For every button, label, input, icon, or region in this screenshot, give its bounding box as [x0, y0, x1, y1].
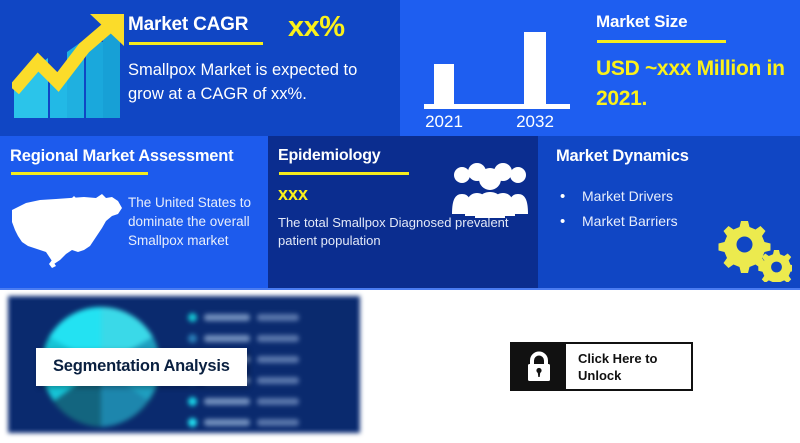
panel-market-dynamics: Market Dynamics Market Drivers Market Ba…: [538, 136, 800, 290]
unlock-button-label: Click Here to Unlock: [566, 344, 691, 389]
legend-label: [204, 314, 250, 321]
legend-value: [257, 377, 299, 384]
dynamics-list: Market Drivers Market Barriers: [560, 184, 678, 234]
panel-regional-market-assessment: Regional Market Assessment The United St…: [0, 136, 268, 290]
lock-icon: [525, 351, 553, 383]
legend-label: [204, 398, 250, 405]
list-item: [188, 308, 348, 326]
dynamics-title: Market Dynamics: [556, 147, 689, 166]
growth-chart-icon: [12, 12, 130, 120]
market-size-value: USD ~xxx Million in 2021.: [596, 54, 794, 114]
legend-dot-icon: [188, 397, 197, 406]
legend-value: [257, 314, 299, 321]
market-size-title: Market Size: [596, 12, 687, 32]
gears-icon: [710, 214, 792, 282]
cagr-value: xx%: [288, 11, 345, 44]
legend-label: [204, 419, 250, 426]
panel-epidemiology: Epidemiology xxx The total Smallpox Diag…: [268, 136, 538, 290]
panel-market-size: 2021 2032 Market Size USD ~xxx Million i…: [400, 0, 800, 136]
unlock-button[interactable]: Click Here to Unlock: [510, 342, 693, 391]
usa-map-icon: [6, 188, 126, 274]
cagr-title: Market CAGR: [128, 14, 248, 36]
lock-badge: [512, 344, 566, 389]
legend-dot-icon: [188, 313, 197, 322]
market-size-underline: [597, 40, 726, 43]
svg-text:2021: 2021: [425, 112, 463, 130]
epidemiology-description: The total Smallpox Diagnosed prevalent p…: [278, 214, 516, 250]
epidemiology-value: xxx: [278, 184, 308, 205]
list-item: [188, 413, 348, 431]
regional-title: Regional Market Assessment: [10, 147, 233, 166]
epidemiology-title: Epidemiology: [278, 147, 381, 165]
legend-value: [257, 419, 299, 426]
regional-description: The United States to dominate the overal…: [128, 193, 260, 250]
list-item: Market Barriers: [560, 209, 678, 234]
row-divider: [0, 288, 800, 290]
segmentation-label-box: Segmentation Analysis: [36, 348, 247, 386]
bar-chart-icon: 2021 2032: [410, 20, 590, 130]
list-item: Market Drivers: [560, 184, 678, 209]
people-group-icon: [452, 162, 528, 218]
legend-value: [257, 356, 299, 363]
cagr-underline: [129, 42, 263, 45]
legend-value: [257, 398, 299, 405]
legend-dot-icon: [188, 334, 197, 343]
legend-dot-icon: [188, 418, 197, 427]
infographic-canvas: Market CAGR xx% Smallpox Market is expec…: [0, 0, 800, 443]
list-item: [188, 392, 348, 410]
panel-market-cagr: Market CAGR xx% Smallpox Market is expec…: [0, 0, 400, 136]
epidemiology-underline: [279, 172, 409, 175]
legend-value: [257, 335, 299, 342]
legend-label: [204, 335, 250, 342]
regional-underline: [11, 172, 148, 175]
list-item: [188, 329, 348, 347]
cagr-description: Smallpox Market is expected to grow at a…: [128, 58, 390, 106]
svg-text:2032: 2032: [516, 112, 554, 130]
segmentation-label: Segmentation Analysis: [53, 357, 230, 375]
